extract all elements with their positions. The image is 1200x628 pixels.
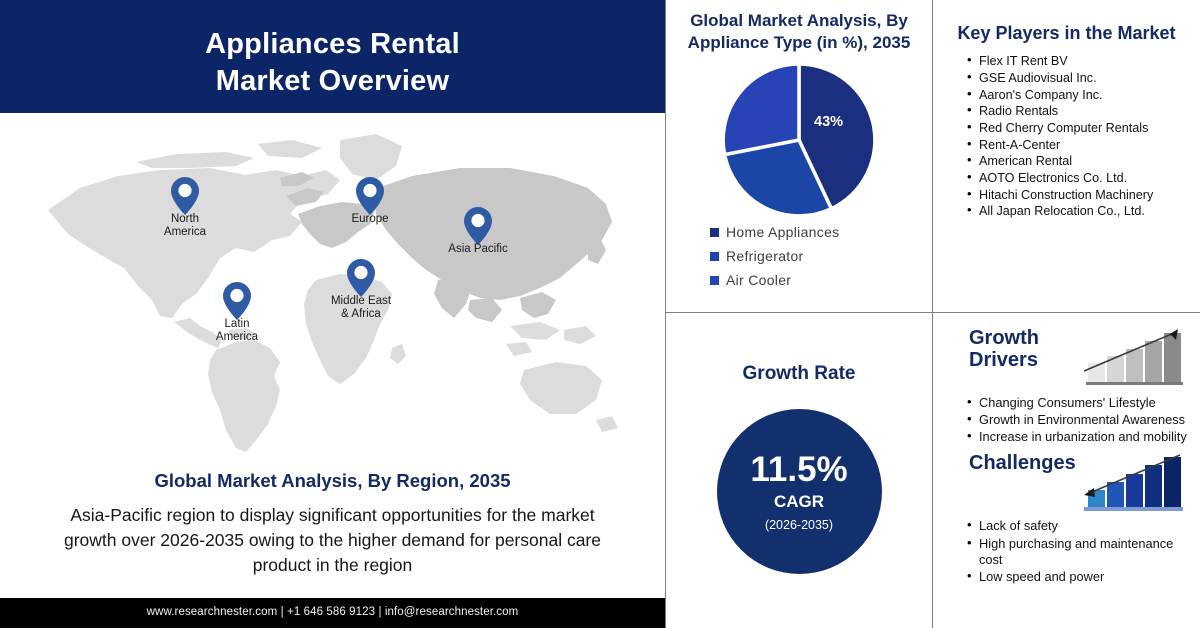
left-column: Appliances Rental Market Overview (0, 0, 665, 628)
legend-swatch-air-cooler (710, 276, 719, 285)
region-analysis-description: Asia-Pacific region to display significa… (58, 503, 607, 578)
growth-rate-circle: 11.5% CAGR (2026-2035) (717, 409, 882, 574)
list-item: Growth in Environmental Awareness (967, 412, 1188, 429)
location-pin-icon (355, 176, 385, 216)
legend-label: Air Cooler (726, 272, 791, 288)
key-players-list: Flex IT Rent BV GSE Audiovisual Inc. Aar… (933, 45, 1200, 219)
legend-item: Home Appliances (710, 224, 932, 240)
growth-drivers-title: Growth Drivers (969, 327, 1082, 372)
growth-rate-value: 11.5% (750, 452, 847, 487)
list-item: Increase in urbanization and mobility (967, 429, 1188, 446)
list-item: Lack of safety (967, 518, 1188, 535)
map-pin-label: Middle East & Africa (316, 295, 406, 321)
header-band: Appliances Rental Market Overview (0, 0, 665, 113)
panel-drivers-challenges: Growth Drivers Changing Consumers' Lifes… (933, 313, 1200, 628)
growth-rate-period: (2026-2035) (765, 518, 833, 532)
map-pin-label: Europe (325, 213, 415, 226)
map-pin-label: Asia Pacific (433, 243, 523, 256)
legend-swatch-home-appliances (710, 228, 719, 237)
pie-legend: Home Appliances Refrigerator Air Cooler (710, 224, 932, 288)
pie-chart-title: Global Market Analysis, By Appliance Typ… (666, 0, 932, 54)
panel-growth-rate: Growth Rate 11.5% CAGR (2026-2035) (665, 313, 933, 628)
list-item: American Rental (967, 153, 1188, 169)
map-pin-europe: Europe (325, 176, 415, 226)
map-pin-north-america: North America (140, 176, 230, 239)
page-title: Appliances Rental Market Overview (0, 26, 665, 100)
map-pin-label: Latin America (192, 318, 282, 344)
right-panel-grid: Global Market Analysis, By Appliance Typ… (665, 0, 1200, 628)
list-item: Hitachi Construction Machinery (967, 187, 1188, 203)
list-item: High purchasing and maintenance cost (967, 536, 1188, 569)
footer-contact: www.researchnester.com | +1 646 586 9123… (0, 606, 665, 618)
location-pin-icon (346, 258, 376, 298)
pie-chart: 43% (719, 60, 879, 220)
panel-key-players: Key Players in the Market Flex IT Rent B… (933, 0, 1200, 313)
growth-rate-metric: CAGR (774, 492, 824, 512)
growth-rate-title: Growth Rate (666, 313, 932, 385)
list-item: Rent-A-Center (967, 137, 1188, 153)
list-item: Red Cherry Computer Rentals (967, 120, 1188, 136)
legend-item: Refrigerator (710, 248, 932, 264)
location-pin-icon (222, 281, 252, 321)
location-pin-icon (463, 206, 493, 246)
growth-drivers-header: Growth Drivers (933, 313, 1200, 389)
key-players-title: Key Players in the Market (933, 0, 1200, 45)
map-pin-asia-pacific: Asia Pacific (433, 206, 523, 256)
list-item: All Japan Relocation Co., Ltd. (967, 203, 1188, 219)
region-analysis-heading: Global Market Analysis, By Region, 2035 (0, 470, 665, 492)
list-item: Flex IT Rent BV (967, 53, 1188, 69)
list-item: GSE Audiovisual Inc. (967, 70, 1188, 86)
legend-label: Home Appliances (726, 224, 839, 240)
list-item: Changing Consumers' Lifestyle (967, 395, 1188, 412)
footer-band: www.researchnester.com | +1 646 586 9123… (0, 598, 665, 628)
list-item: Low speed and power (967, 569, 1188, 586)
location-pin-icon (170, 176, 200, 216)
legend-label: Refrigerator (726, 248, 804, 264)
world-map: North America Europe Asia Pacific (40, 118, 630, 468)
list-item: AOTO Electronics Co. Ltd. (967, 170, 1188, 186)
challenges-list: Lack of safety High purchasing and maint… (933, 514, 1200, 586)
list-item: Radio Rentals (967, 103, 1188, 119)
challenges-header: Challenges (933, 446, 1200, 514)
pie-chart-svg (719, 60, 879, 220)
growth-drivers-list: Changing Consumers' Lifestyle Growth in … (933, 389, 1200, 446)
map-pin-label: North America (140, 213, 230, 239)
legend-swatch-refrigerator (710, 252, 719, 261)
challenges-bar-chart-icon (1082, 452, 1186, 514)
legend-item: Air Cooler (710, 272, 932, 288)
panel-appliance-type: Global Market Analysis, By Appliance Typ… (665, 0, 933, 313)
growth-bar-chart-icon (1082, 327, 1186, 389)
map-pin-middle-east-africa: Middle East & Africa (316, 258, 406, 321)
map-pin-latin-america: Latin America (192, 281, 282, 344)
infographic-root: Appliances Rental Market Overview (0, 0, 1200, 628)
list-item: Aaron's Company Inc. (967, 87, 1188, 103)
pie-slice-label: 43% (814, 114, 843, 130)
challenges-title: Challenges (969, 452, 1076, 474)
